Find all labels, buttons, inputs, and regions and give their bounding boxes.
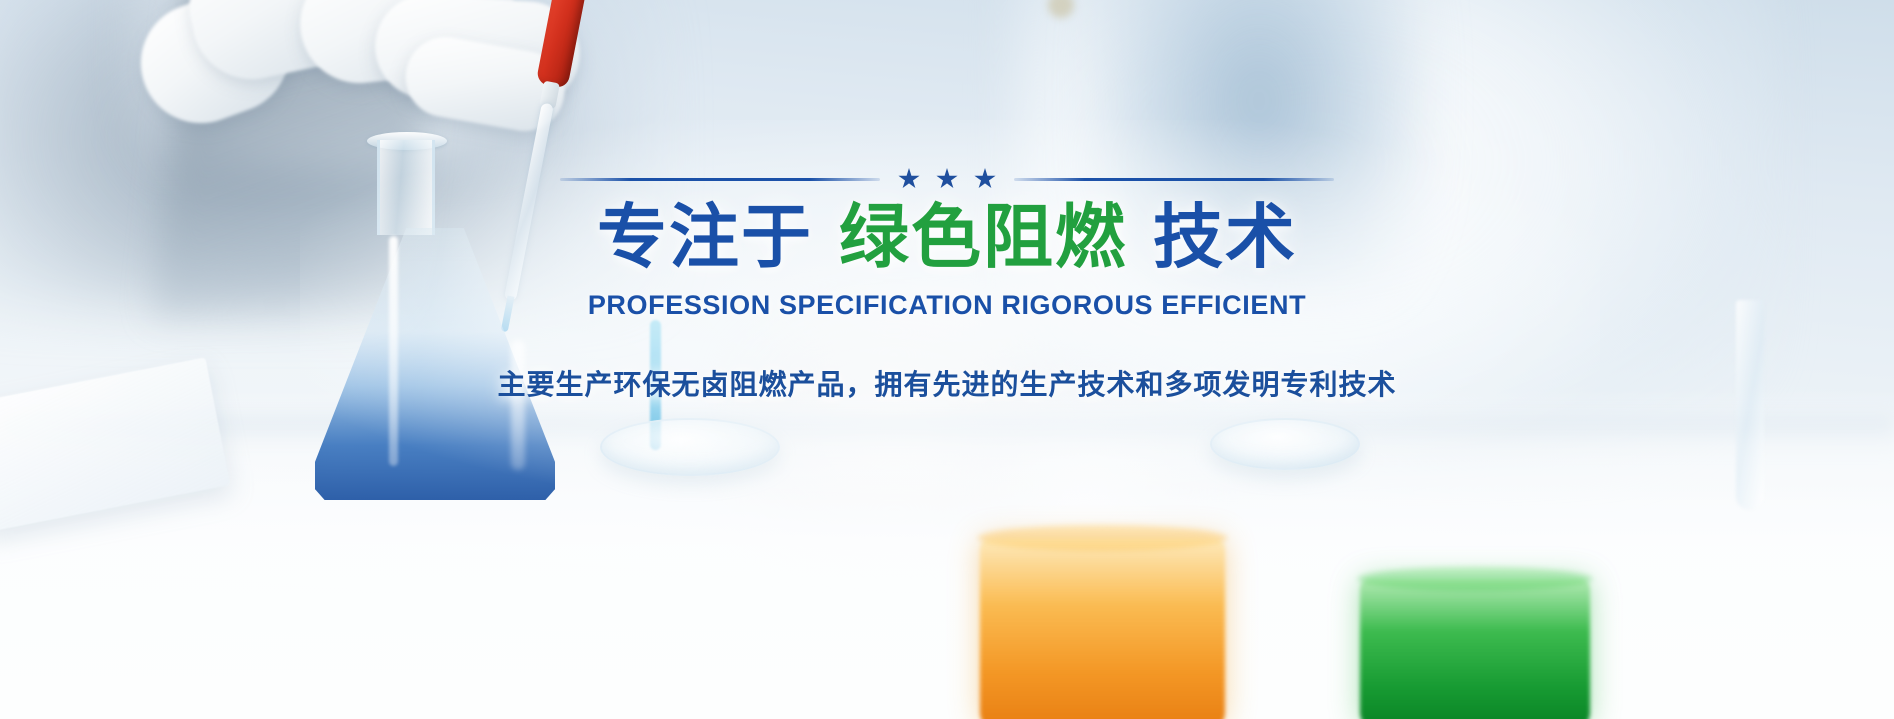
star-icon bbox=[898, 168, 920, 190]
decorative-divider bbox=[560, 168, 1334, 190]
headline-part-3: 技术 bbox=[1153, 198, 1297, 276]
orange-beaker-icon bbox=[980, 539, 1225, 719]
green-beaker-icon bbox=[1360, 579, 1590, 719]
divider-line-right bbox=[1014, 178, 1334, 181]
star-icon-3 bbox=[974, 168, 996, 190]
petri-dish-icon bbox=[600, 418, 780, 476]
hero-banner: 专注于绿色阻燃技术 PROFESSION SPECIFICATION RIGOR… bbox=[0, 0, 1894, 719]
headline-part-2: 绿色阻燃 bbox=[839, 198, 1127, 276]
petri-dish-icon-2 bbox=[1210, 418, 1360, 470]
banner-content: 专注于绿色阻燃技术 PROFESSION SPECIFICATION RIGOR… bbox=[0, 168, 1894, 403]
headline-part-1: 专注于 bbox=[597, 198, 813, 276]
page-tagline: 主要生产环保无卤阻燃产品，拥有先进的生产技术和多项发明专利技术 bbox=[497, 363, 1396, 403]
star-icon-2 bbox=[936, 168, 958, 190]
page-title: 专注于绿色阻燃技术 bbox=[597, 198, 1297, 276]
divider-line-left bbox=[560, 178, 880, 181]
page-subtitle: PROFESSION SPECIFICATION RIGOROUS EFFICI… bbox=[588, 290, 1306, 321]
background-bench-surface bbox=[0, 389, 1894, 719]
star-group bbox=[898, 168, 996, 190]
